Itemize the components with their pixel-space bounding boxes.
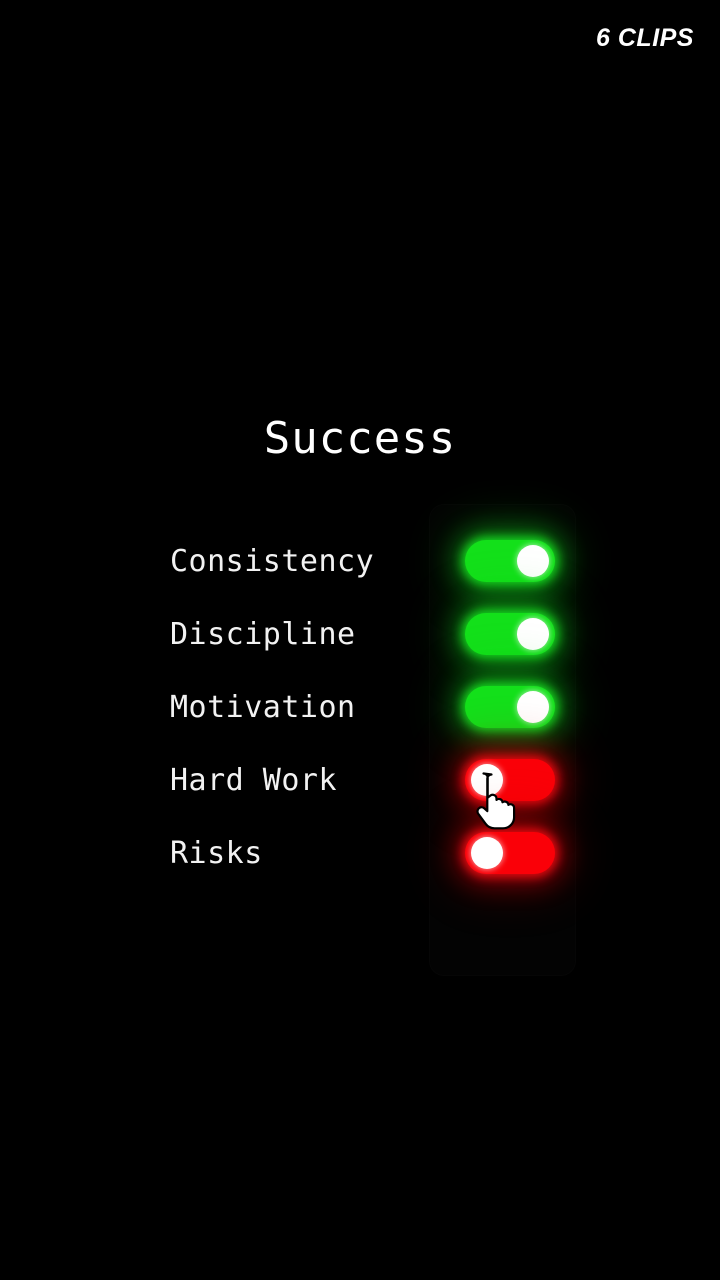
toggle-row-hard-work[interactable]: Hard Work — [170, 752, 555, 808]
toggle-list: Consistency Discipline Motivation Hard W… — [170, 533, 555, 881]
page-title: Success — [0, 413, 720, 464]
toggle-row-discipline[interactable]: Discipline — [170, 606, 555, 662]
toggle-knob — [471, 837, 503, 869]
toggle-switch-consistency[interactable] — [465, 540, 555, 582]
toggle-row-label: Hard Work — [170, 763, 337, 798]
toggle-knob — [517, 618, 549, 650]
toggle-row-label: Consistency — [170, 544, 374, 579]
toggle-row-label: Motivation — [170, 690, 356, 725]
toggle-knob — [517, 545, 549, 577]
toggle-switch-hard-work[interactable] — [465, 759, 555, 801]
toggle-switch-risks[interactable] — [465, 832, 555, 874]
toggle-knob — [517, 691, 549, 723]
toggle-switch-discipline[interactable] — [465, 613, 555, 655]
toggle-row-label: Risks — [170, 836, 263, 871]
toggle-row-consistency[interactable]: Consistency — [170, 533, 555, 589]
toggle-row-motivation[interactable]: Motivation — [170, 679, 555, 735]
toggle-knob — [471, 764, 503, 796]
toggle-switch-motivation[interactable] — [465, 686, 555, 728]
toggle-row-risks[interactable]: Risks — [170, 825, 555, 881]
toggle-row-label: Discipline — [170, 617, 356, 652]
watermark-6-clips: 6 CLIPS — [596, 24, 694, 53]
